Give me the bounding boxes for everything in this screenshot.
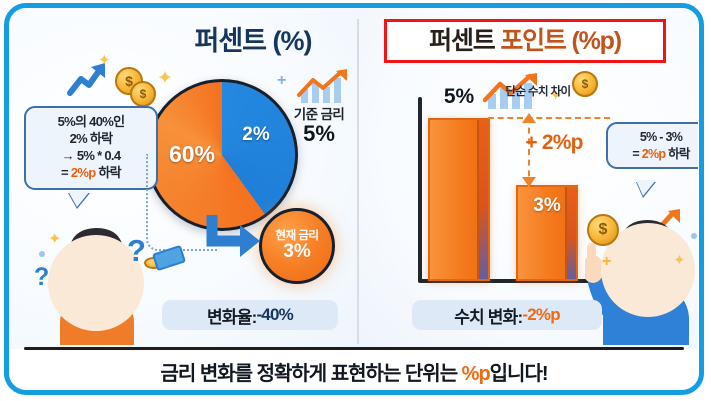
left-pill-key: 변화율: (207, 303, 256, 328)
bubble-line-4-suffix: 하락 (96, 165, 121, 180)
caption-prefix: 금리 변화를 정확하게 표현하는 단위는 (160, 363, 461, 385)
dashed-reference-line (488, 117, 610, 119)
plus-sparkle-icon: + (602, 253, 611, 271)
coin-icon: $ (587, 214, 619, 246)
bar-chart-y-axis (418, 97, 422, 282)
base-rate-label: 기준 금리 (275, 107, 363, 122)
base-rate-value: 5% (275, 122, 363, 147)
bar-base-rate (428, 118, 490, 281)
left-panel-title: 퍼센트 (%) (158, 23, 348, 59)
base-rate-caption: 기준 금리 5% (275, 107, 363, 147)
right-bubble-line-2: = 2%p 하락 (611, 146, 698, 163)
measure-arrow-down-icon (522, 177, 536, 187)
right-bubble-line-1: 5% - 3% (611, 129, 698, 146)
infographic-canvas: 퍼센트 (%) $ $ ✦ ✦ + 60% (0, 0, 711, 401)
right-pill-value: -2%p (522, 305, 559, 325)
difference-value: + 2%p (506, 131, 602, 155)
right-change-value-pill: 수치 변화: -2%p (412, 300, 602, 330)
right-bubble-highlight: 2%p (642, 147, 666, 161)
elbow-arrow-icon (206, 213, 262, 259)
bubble-line-2: 2% 하락 (30, 131, 152, 148)
question-mark-icon: ? (34, 263, 49, 292)
right-title-part2: 포인트 (%p) (500, 27, 621, 55)
sparkle-icon: ✦ (48, 229, 61, 249)
caption-highlight: %p (462, 363, 490, 385)
difference-caption: 단순 수치 차이 (486, 83, 590, 99)
bubble-line-4-prefix: = (61, 165, 71, 180)
bubble-line-3: → 5% * 0.4 (30, 148, 152, 165)
bar-label-3: 3% (516, 195, 578, 217)
measure-arrow-up-icon (522, 113, 536, 123)
bubble-line-4: = 2%p 하락 (30, 165, 152, 182)
right-explanation-bubble: 5% - 3% = 2%p 하락 (606, 122, 698, 169)
left-explanation-bubble: 5%의 40%인 2% 하락 → 5% * 0.4 = 2%p 하락 (24, 106, 158, 190)
bottom-caption: 금리 변화를 정확하게 표현하는 단위는 %p입니다! (10, 357, 698, 386)
left-bubble-tail (68, 191, 90, 207)
left-pill-value: -40% (256, 305, 293, 325)
panel-divider (357, 19, 359, 344)
bubble-line-4-highlight: 2%p (71, 165, 96, 180)
dot-icon (39, 251, 45, 257)
right-bubble-tail (636, 180, 656, 196)
bubble-line-1: 5%의 40%인 (30, 114, 152, 131)
caption-suffix: 입니다! (490, 363, 548, 385)
current-rate-value: 3% (283, 242, 310, 262)
right-bubble-prefix: = (632, 147, 641, 161)
left-change-rate-pill: 변화율: -40% (162, 300, 338, 330)
bar-edge (477, 120, 488, 279)
bottom-divider (24, 347, 684, 350)
right-panel-title-box: 퍼센트 포인트 (%p) (384, 19, 666, 63)
thinking-person-illustration: ? ? ✦ (30, 215, 160, 345)
dot-icon (691, 233, 697, 239)
inner-canvas: 퍼센트 (%) $ $ ✦ ✦ + 60% (10, 9, 698, 389)
bar-label-5: 5% (428, 85, 490, 109)
right-pill-key: 수치 변화: (454, 303, 522, 328)
sparkle-icon: ✦ (98, 51, 111, 69)
right-bubble-suffix: 하락 (665, 147, 689, 161)
current-rate-badge: 현재 금리 3% (259, 208, 335, 284)
right-title-part1: 퍼센트 (429, 27, 500, 55)
right-panel-title: 퍼센트 포인트 (%p) (387, 22, 663, 60)
pie-slice-label-2: 2% (232, 124, 280, 146)
sparkle-icon: ✦ (673, 251, 686, 269)
